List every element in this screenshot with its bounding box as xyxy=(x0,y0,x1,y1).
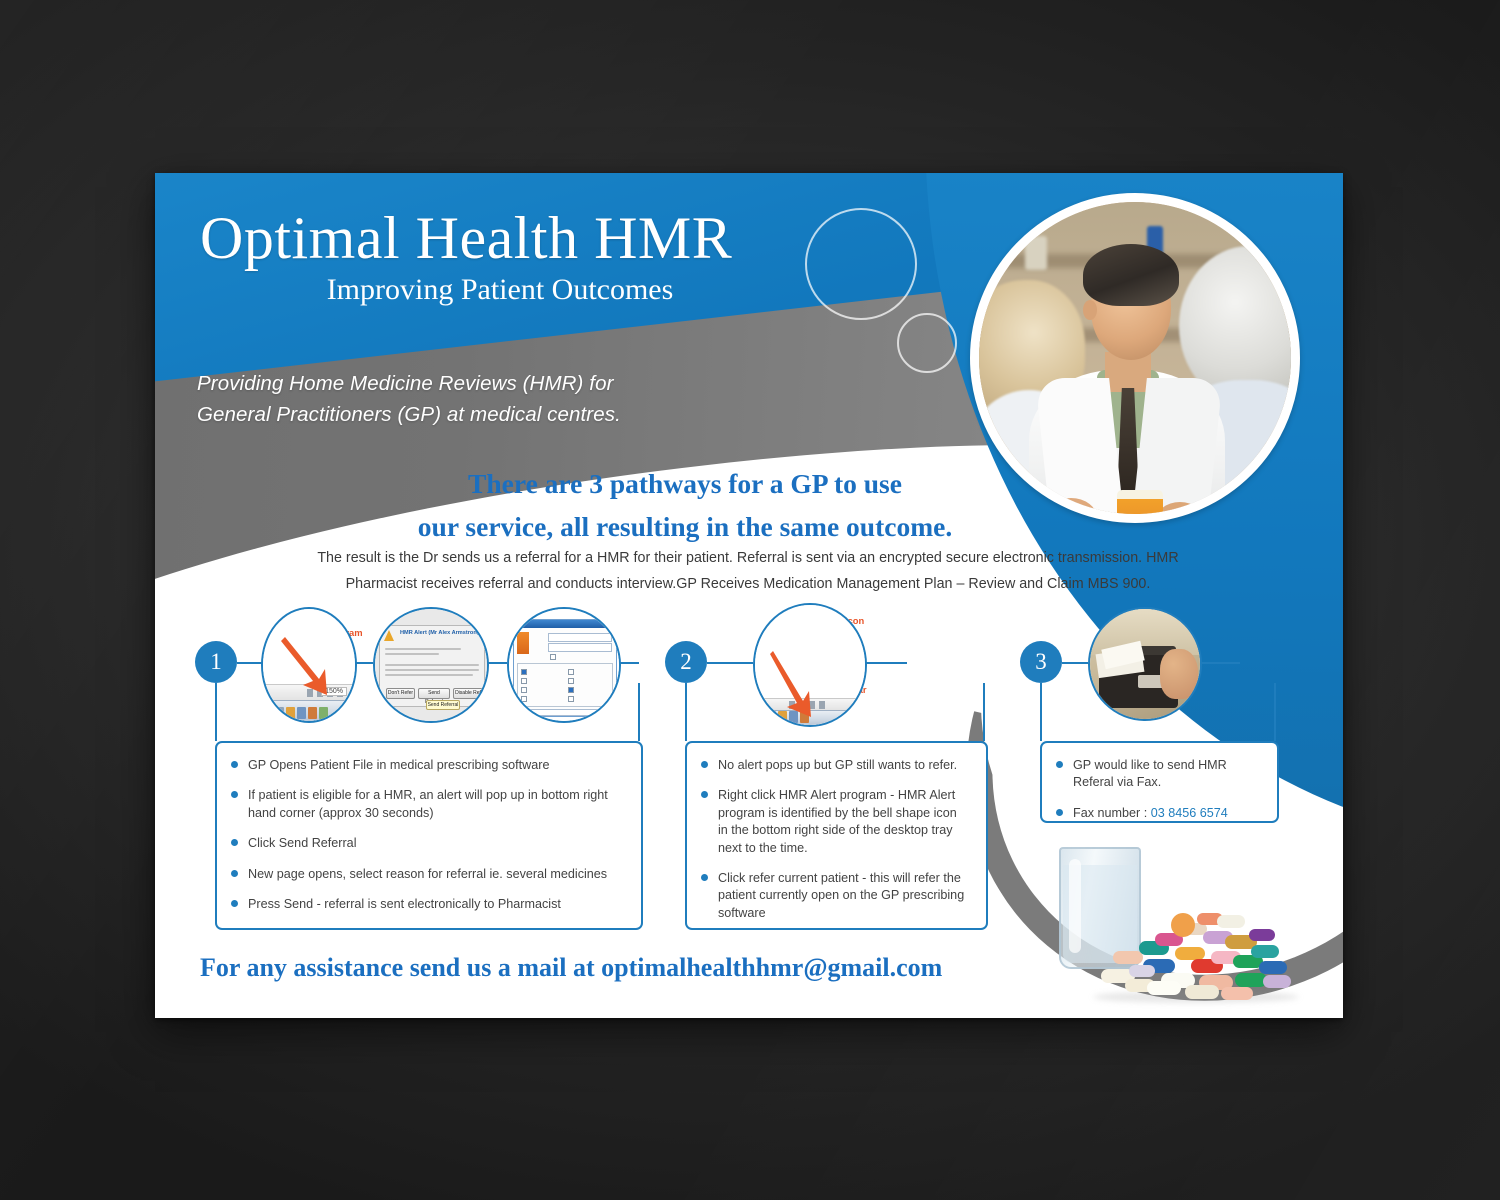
urgent-checkbox[interactable] xyxy=(550,654,556,660)
tagline-line-2: General Practitioners (GP) at medical ce… xyxy=(197,400,621,431)
connector-line-2b xyxy=(861,662,907,664)
pill xyxy=(1185,985,1219,999)
connector-drop-3-left xyxy=(1040,683,1042,741)
list-item: No alert pops up but GP still wants to r… xyxy=(701,757,970,774)
tagline-band: Providing Home Medicine Reviews (HMR) fo… xyxy=(197,369,621,431)
pill xyxy=(1217,915,1245,928)
intro-paragraph: The result is the Dr sends us a referral… xyxy=(283,545,1213,598)
pill xyxy=(1259,961,1287,974)
screenshot-circle-2 xyxy=(753,603,867,727)
referral-window-screenshot xyxy=(509,609,619,721)
dialog-text-line-1 xyxy=(385,648,461,650)
shelf-bottle-white xyxy=(1025,236,1047,270)
headline-line-1: There are 3 pathways for a GP to use xyxy=(335,463,1035,506)
list-item: If patient is eligible for a HMR, an ale… xyxy=(231,787,625,822)
fax-machine-photo xyxy=(1090,609,1200,719)
pathway-3-box: GP would like to send HMR Referal via Fa… xyxy=(1040,741,1279,823)
pharmacist-hair xyxy=(1083,244,1179,306)
pill xyxy=(1171,913,1195,937)
windows-taskbar xyxy=(263,700,355,721)
list-item: Right click HMR Alert program - HMR Aler… xyxy=(701,787,970,857)
operator-hand xyxy=(1160,649,1197,700)
to-field[interactable] xyxy=(548,633,612,642)
list-item: Click refer current patient - this will … xyxy=(701,870,970,922)
pathway-1-box: GP Opens Patient File in medical prescri… xyxy=(215,741,643,930)
hmr-alert-dialog: HMR Alert (Mr Alex Armstrong) Don't Refe… xyxy=(379,625,485,707)
orange-arrow-icon xyxy=(279,635,339,699)
secure-message-window xyxy=(513,619,617,717)
option-checkbox-7[interactable] xyxy=(568,696,574,702)
right-click-screenshot xyxy=(755,605,865,725)
headline-line-2: our service, all resulting in the same o… xyxy=(335,506,1035,549)
warning-triangle-icon xyxy=(384,630,394,641)
pill xyxy=(1221,987,1253,1000)
decorative-bubble-small xyxy=(897,313,957,373)
fax-photo-circle xyxy=(1088,607,1202,721)
compose-icon xyxy=(517,632,529,654)
page-title: Optimal Health HMR xyxy=(200,208,840,269)
tray-screenshot: 150% xyxy=(263,609,355,721)
dialog-text-line-4 xyxy=(385,669,479,671)
subject-field[interactable] xyxy=(548,643,612,652)
step-badge-1: 1 xyxy=(195,641,237,683)
step-badge-2: 2 xyxy=(665,641,707,683)
option-checkbox-6[interactable] xyxy=(521,696,527,702)
screenshot-circle-1c xyxy=(507,607,621,723)
connector-line-2a xyxy=(707,662,753,664)
list-item: Click Send Referral xyxy=(231,835,625,852)
connector-drop-1-left xyxy=(215,683,217,741)
connector-drop-2-right xyxy=(983,683,985,741)
connector-drop-3-right xyxy=(1274,683,1276,741)
pill xyxy=(1263,975,1291,988)
pharmacist-photo xyxy=(970,193,1300,523)
page-subtitle: Improving Patient Outcomes xyxy=(200,273,840,307)
orange-arrow-icon xyxy=(769,649,821,719)
fax-number: 03 8456 6574 xyxy=(1151,806,1228,820)
screenshot-circle-1b: HMR Alert (Mr Alex Armstrong) Don't Refe… xyxy=(373,607,489,723)
connector-line-3b xyxy=(1196,662,1240,664)
title-block: Optimal Health HMR Improving Patient Out… xyxy=(200,208,840,307)
tray-icon-right xyxy=(477,697,485,707)
alert-dialog-screenshot: HMR Alert (Mr Alex Armstrong) Don't Refe… xyxy=(375,609,487,721)
send-referral-tooltip: Send Referral xyxy=(426,700,460,710)
pills-and-water-photo xyxy=(1045,833,1305,1013)
pathway-1-bullets: GP Opens Patient File in medical prescri… xyxy=(217,743,641,927)
connector-drop-1-right xyxy=(638,683,640,741)
connector-drop-2-left xyxy=(685,683,687,741)
send-referral-button[interactable]: Send Referral xyxy=(418,688,450,699)
connector-line-1a xyxy=(237,662,263,664)
list-item: New page opens, select reason for referr… xyxy=(231,866,625,883)
pharmacist-ear xyxy=(1083,300,1097,320)
option-checkbox-5[interactable] xyxy=(568,687,574,693)
other-reasons-field[interactable] xyxy=(517,709,613,716)
screenshot-circle-1a: 150% xyxy=(261,607,357,723)
contact-email-line: For any assistance send us a mail at opt… xyxy=(200,953,942,983)
pill-bottle-icon xyxy=(1117,490,1163,514)
pill xyxy=(1129,965,1155,977)
list-item: GP Opens Patient File in medical prescri… xyxy=(231,757,625,774)
fax-label: Fax number : xyxy=(1073,806,1151,820)
tray-icons xyxy=(275,707,328,719)
pill xyxy=(1251,945,1279,958)
option-checkbox-2[interactable] xyxy=(521,678,527,684)
pathway-2-bullets: No alert pops up but GP still wants to r… xyxy=(687,743,986,936)
step-badge-3: 3 xyxy=(1020,641,1062,683)
option-checkbox-1[interactable] xyxy=(568,669,574,675)
tagline-line-1: Providing Home Medicine Reviews (HMR) fo… xyxy=(197,369,621,400)
dont-refer-button[interactable]: Don't Refer xyxy=(386,688,415,699)
list-item-fax: Fax number : 03 8456 6574 xyxy=(1056,805,1261,822)
dialog-text-line-2 xyxy=(385,653,439,655)
pill xyxy=(1147,981,1181,995)
list-item: Press Send - referral is sent electronic… xyxy=(231,896,625,913)
flyer-poster: Optimal Health HMR Improving Patient Out… xyxy=(155,173,1343,1018)
list-item: GP would like to send HMR Referal via Fa… xyxy=(1056,757,1261,792)
connector-line-3a xyxy=(1062,662,1088,664)
option-checkbox-3[interactable] xyxy=(568,678,574,684)
window-title-bar xyxy=(514,620,616,628)
headline: There are 3 pathways for a GP to use our… xyxy=(335,463,1035,548)
pill xyxy=(1113,951,1143,964)
option-checkbox-0[interactable] xyxy=(521,669,527,675)
pathway-3-bullets: GP would like to send HMR Referal via Fa… xyxy=(1042,743,1277,836)
pharmacy-scene xyxy=(979,202,1291,514)
dialog-text-line-3 xyxy=(385,664,479,666)
option-checkbox-4[interactable] xyxy=(521,687,527,693)
pathway-2-box: No alert pops up but GP still wants to r… xyxy=(685,741,988,930)
dialog-title: HMR Alert (Mr Alex Armstrong) xyxy=(400,630,482,636)
dialog-text-line-5 xyxy=(385,674,473,676)
pill xyxy=(1249,929,1275,941)
tray-icon-left xyxy=(375,698,385,707)
clinical-needs-group xyxy=(517,663,613,707)
pill-pile xyxy=(1099,907,1299,1003)
